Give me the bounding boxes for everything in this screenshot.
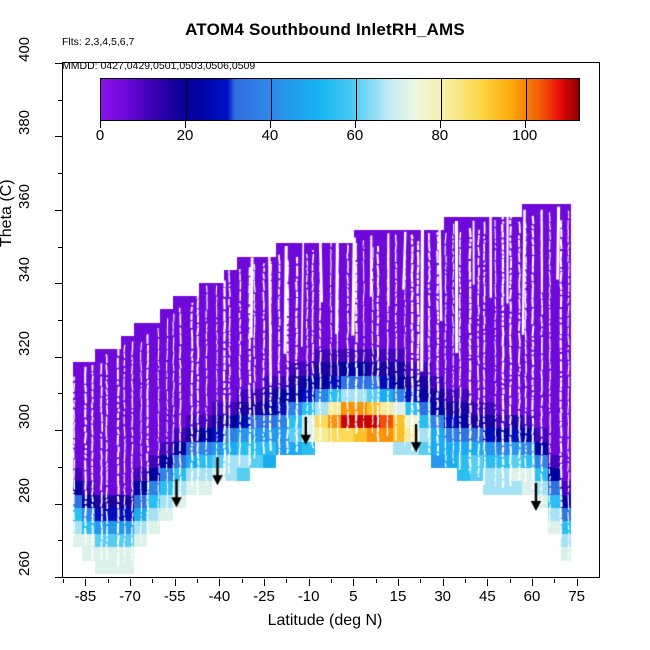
y-axis: 260280300320340360380400: [0, 62, 62, 579]
chart-page: ATOM4 Southbound InletRH_AMS Flts: 2,3,4…: [0, 0, 650, 650]
x-axis-minor-tick: [420, 579, 421, 583]
heatmap-canvas-holder: [63, 63, 599, 577]
x-axis-tick-label: 45: [479, 588, 496, 605]
flights-annotation: Flts: 2,3,4,5,6,7: [62, 36, 134, 48]
x-axis-tick: [443, 579, 444, 586]
y-axis-minor-tick: [58, 173, 62, 174]
x-axis-tick-label: 75: [568, 588, 585, 605]
y-axis-tick: [55, 210, 62, 211]
y-axis-minor-tick: [58, 540, 62, 541]
y-axis-tick: [55, 430, 62, 431]
x-axis-minor-tick: [108, 579, 109, 583]
x-axis-tick-label: -70: [119, 588, 141, 605]
x-axis-tick-label: -55: [164, 588, 186, 605]
y-axis-tick-label: 400: [16, 37, 33, 62]
y-axis-tick: [55, 136, 62, 137]
y-axis-label: Theta (C): [0, 179, 16, 247]
x-axis-minor-tick: [510, 579, 511, 583]
x-axis-label: Latitude (deg N): [0, 612, 650, 630]
y-axis-minor-tick: [58, 467, 62, 468]
y-axis-minor-tick: [58, 320, 62, 321]
x-axis-tick-label: 15: [390, 588, 407, 605]
heatmap-canvas: [63, 63, 599, 577]
x-axis-minor-tick: [197, 579, 198, 583]
y-axis-tick-label: 300: [16, 404, 33, 429]
y-axis-tick-label: 260: [16, 551, 33, 576]
x-axis-tick: [264, 579, 265, 586]
x-axis-tick: [398, 579, 399, 586]
x-axis-tick-label: 30: [434, 588, 451, 605]
y-axis-tick: [55, 63, 62, 64]
y-axis-tick-label: 280: [16, 478, 33, 503]
x-axis-tick: [85, 579, 86, 586]
x-axis-tick: [353, 579, 354, 586]
x-axis-tick-label: 60: [524, 588, 541, 605]
x-axis-tick: [487, 579, 488, 586]
x-axis-minor-tick: [63, 579, 64, 583]
x-axis-minor-tick: [152, 579, 153, 583]
x-axis-minor-tick: [331, 579, 332, 583]
y-axis-tick-label: 380: [16, 110, 33, 135]
x-axis-tick: [532, 579, 533, 586]
y-axis-tick: [55, 577, 62, 578]
x-axis-tick-label: -10: [298, 588, 320, 605]
x-axis-minor-tick: [242, 579, 243, 583]
x-axis-minor-tick: [465, 579, 466, 583]
x-axis-tick: [175, 579, 176, 586]
x-axis-tick: [219, 579, 220, 586]
x-axis-minor-tick: [376, 579, 377, 583]
y-axis-tick: [55, 283, 62, 284]
y-axis-minor-tick: [58, 100, 62, 101]
y-axis-tick: [55, 504, 62, 505]
y-axis-minor-tick: [58, 247, 62, 248]
x-axis-minor-tick: [286, 579, 287, 583]
y-axis-tick-label: 320: [16, 331, 33, 356]
x-axis-tick-label: -85: [74, 588, 96, 605]
y-axis-tick-label: 340: [16, 257, 33, 282]
x-axis-tick-label: -40: [208, 588, 230, 605]
x-axis-tick: [577, 579, 578, 586]
y-axis-tick: [55, 357, 62, 358]
x-axis-minor-tick: [554, 579, 555, 583]
y-axis-tick-label: 360: [16, 184, 33, 209]
x-axis-tick-label: -25: [253, 588, 275, 605]
x-axis-tick: [130, 579, 131, 586]
y-axis-minor-tick: [58, 393, 62, 394]
x-axis-tick-label: 5: [349, 588, 357, 605]
plot-area: [62, 62, 600, 578]
x-axis-tick: [309, 579, 310, 586]
